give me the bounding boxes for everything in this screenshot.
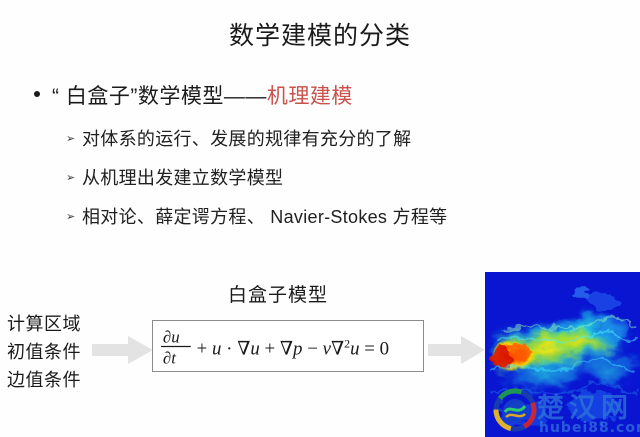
- arrowhead-icon: ➢: [66, 165, 82, 192]
- bullet-dot-icon: [34, 91, 40, 97]
- equation-body: + u · ∇u + ∇p − ν∇2u = 0: [197, 336, 389, 359]
- condition-label-boundary: 边值条件: [7, 366, 81, 394]
- list-item: ➢ 从机理出发建立数学模型: [66, 165, 586, 195]
- page-title: 数学建模的分类: [0, 20, 640, 52]
- main-bullet-accent-text: 机理建模: [267, 82, 353, 112]
- slide-canvas: 数学建模的分类 “ 白盒子”数学模型—— 机理建模 ➢ 对体系的运行、发展的规律…: [0, 0, 640, 437]
- main-bullet-text: “ 白盒子”数学模型——: [52, 82, 267, 112]
- list-item: ➢ 相对论、薛定谔方程、 Navier-Stokes 方程等: [66, 204, 586, 234]
- turbulence-svg: 楚汉网 hubei88.com: [485, 272, 640, 437]
- white-box-model-label: 白盒子模型: [228, 283, 328, 309]
- turbulence-simulation-image: 楚汉网 hubei88.com: [485, 272, 640, 437]
- right-arrow-icon: [92, 335, 154, 365]
- condition-label-domain: 计算区域: [7, 310, 81, 338]
- condition-label-group: 计算区域 初值条件 边值条件: [7, 310, 81, 394]
- sub-bullet-label: 相对论、薛定谔方程、 Navier-Stokes 方程等: [82, 204, 447, 231]
- arrowhead-icon: ➢: [66, 204, 82, 231]
- sub-bullet-label: 从机理出发建立数学模型: [82, 165, 283, 192]
- list-item: ➢ 对体系的运行、发展的规律有充分的了解: [66, 126, 586, 156]
- watermark-url: hubei88.com: [539, 420, 640, 436]
- equation-box: ∂u ∂t + u · ∇u + ∇p − ν∇2u = 0: [152, 320, 424, 372]
- white-box-model-diagram: 计算区域 初值条件 边值条件 白盒子模型 ∂u ∂t + u · ∇u + ∇p…: [0, 262, 640, 437]
- condition-label-initial: 初值条件: [7, 338, 81, 366]
- sub-bullet-list: ➢ 对体系的运行、发展的规律有充分的了解 ➢ 从机理出发建立数学模型 ➢ 相对论…: [66, 126, 586, 243]
- right-arrow-icon: [428, 335, 486, 365]
- arrowhead-icon: ➢: [66, 126, 82, 153]
- equation-denominator: ∂t: [163, 348, 177, 367]
- navier-stokes-equation: ∂u ∂t + u · ∇u + ∇p − ν∇2u = 0: [153, 321, 423, 371]
- equation-numerator: ∂u: [163, 328, 180, 347]
- sub-bullet-label: 对体系的运行、发展的规律有充分的了解: [82, 126, 411, 153]
- main-bullet-row: “ 白盒子”数学模型—— 机理建模: [34, 82, 353, 112]
